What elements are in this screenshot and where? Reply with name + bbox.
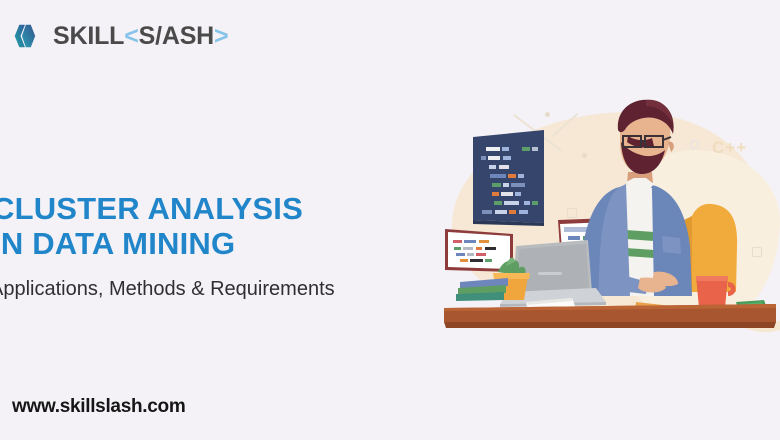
wall-monitor-dark-code [473,130,544,226]
subheadline: Applications, Methods & Requirements [0,278,335,301]
desk [444,304,776,328]
stack-of-books [456,278,508,301]
headline-line-2: IN DATA MINING [0,227,462,262]
brand-bracket-close: > [214,22,228,50]
headline: CLUSTER ANALYSIS IN DATA MINING [0,192,462,261]
brand-name: SKILL<S/ASH> [53,24,228,49]
website-url: www.skillslash.com [12,396,185,418]
brand-name-part1: SKILL [53,22,124,50]
promo-banner: C++ SKILL<S/ASH> [0,0,780,440]
code-brackets-icon [14,21,44,51]
hero-illustration: Bearded developer with glasses working o… [440,96,780,340]
headline-line-1: CLUSTER ANALYSIS [0,192,462,227]
developer-character [580,100,692,296]
brand-name-part2: S/ASH [139,22,214,50]
brand-logo[interactable]: SKILL<S/ASH> [14,21,228,51]
brand-bracket-open: < [124,22,138,50]
